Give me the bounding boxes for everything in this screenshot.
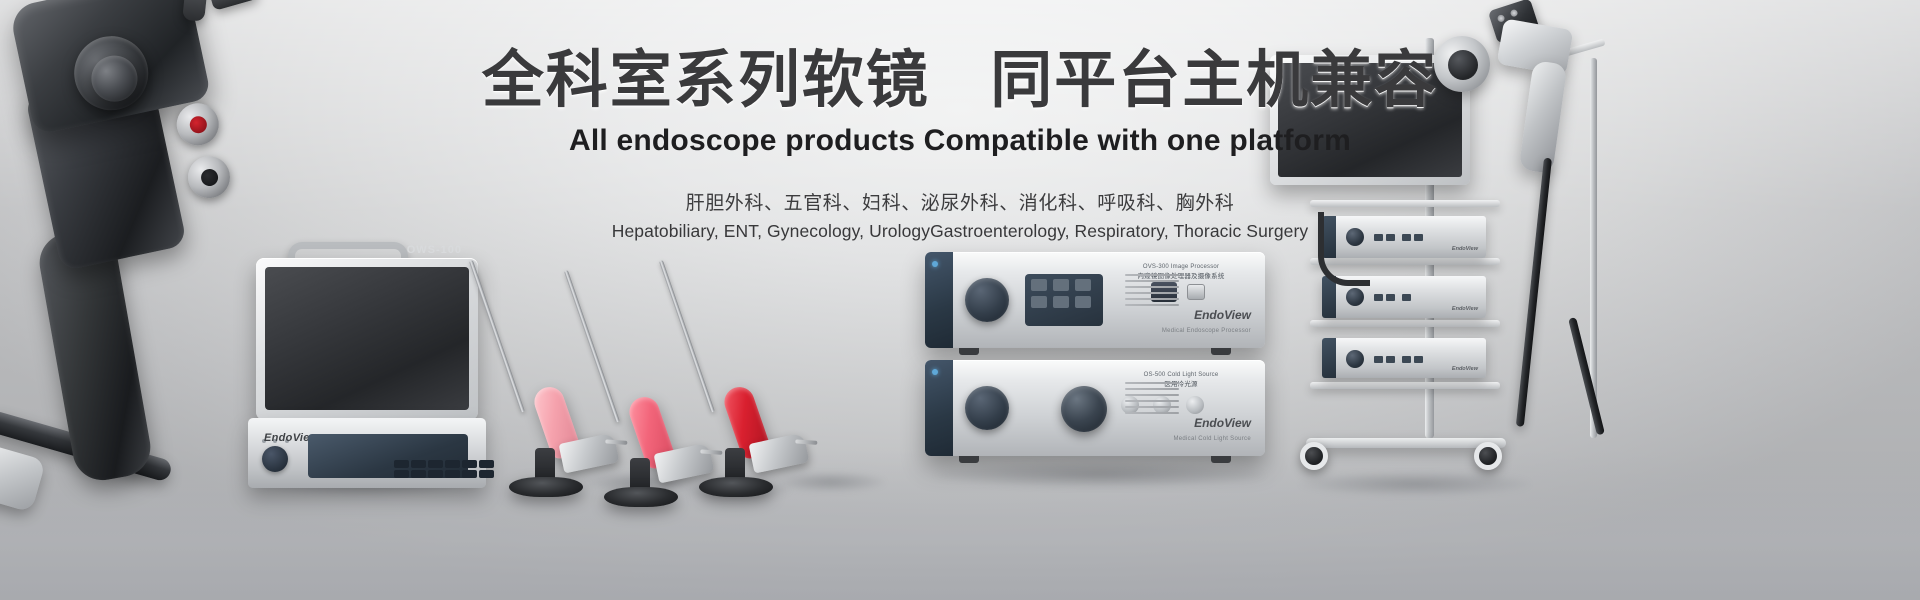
vent-slot — [1125, 274, 1179, 276]
keypad-key — [394, 470, 409, 478]
keypad-key — [428, 460, 443, 468]
base-control-dial — [262, 446, 288, 472]
keypad-key — [1386, 356, 1395, 363]
keypad-key — [411, 460, 426, 468]
scope-stand-base — [699, 477, 773, 497]
vent-slot — [1125, 280, 1179, 282]
unit-keypad — [1374, 288, 1414, 306]
keypad-key — [411, 470, 426, 478]
keypad-key — [1374, 294, 1383, 301]
keypad-key — [394, 460, 409, 468]
keypad-key — [428, 470, 443, 478]
processor-brand-label: EndoView — [1194, 308, 1251, 322]
keypad-key — [445, 470, 460, 478]
base-control-panel — [308, 434, 468, 478]
processor-keypad — [1025, 274, 1103, 326]
unit-dial — [1346, 350, 1364, 368]
monitor-model-label: OWS-100 — [407, 244, 462, 256]
keypad-key — [1031, 279, 1047, 291]
unit-keypad — [1374, 350, 1426, 368]
vent-slot — [1125, 286, 1179, 288]
keypad-key — [1031, 296, 1047, 308]
unit-port — [1322, 338, 1336, 378]
foot — [1211, 456, 1231, 463]
rigid-scope-red-image — [695, 252, 845, 492]
button — [1186, 396, 1204, 414]
ows-monitor-workstation-image: OWS-100 EndoView — [240, 250, 485, 490]
specialty-list-chinese: 肝胆外科、五官科、妇科、泌尿外科、消化科、呼吸科、胸外科 — [0, 188, 1920, 215]
vent-slot — [1125, 388, 1179, 390]
banner-text-block: 全科室系列软镜 同平台主机兼容 All endoscope products C… — [0, 48, 1920, 242]
processor-main-dial — [965, 278, 1009, 322]
keypad-key — [1402, 356, 1411, 363]
light-source-fiber-port — [925, 360, 953, 456]
vent-slot — [1125, 400, 1179, 402]
keypad-key — [479, 470, 494, 478]
headline-part-2: 同平台主机兼容 — [990, 46, 1438, 115]
scope-stand-base — [509, 477, 583, 497]
base-keypad — [394, 458, 506, 488]
vent-slot — [1125, 406, 1179, 408]
vent-slot — [1125, 304, 1179, 306]
foot — [1211, 348, 1231, 355]
processor-sub-label: Medical Endoscope Processor — [1162, 328, 1251, 334]
keypad-key — [462, 470, 477, 478]
vent-slot — [1125, 292, 1179, 294]
light-source-brand-label: EndoView — [1194, 416, 1251, 430]
subheadline-english: All endoscope products Compatible with o… — [0, 124, 1920, 158]
keypad-key — [1075, 279, 1091, 291]
keypad-key — [1374, 356, 1383, 363]
light-guide-icon — [1510, 9, 1519, 18]
processor-usb-port — [1187, 284, 1205, 300]
keypad-key — [445, 460, 460, 468]
processor-vent-grille — [1125, 274, 1179, 326]
light-source-sub-label: Medical Cold Light Source — [1173, 436, 1251, 442]
processor-stack-image: OVS-300 Image Processor 内窥镜图像处理器及摄像系统 En… — [925, 252, 1275, 467]
endoscope-lever — [182, 0, 210, 22]
foot — [959, 456, 979, 463]
monitor-screen — [265, 267, 469, 410]
keypad-key — [462, 460, 477, 468]
light-source-port-dial — [965, 386, 1009, 430]
cart-caster-wheel — [1474, 442, 1502, 470]
processor-scope-port — [925, 252, 953, 348]
headline: 全科室系列软镜 同平台主机兼容 — [0, 48, 1920, 114]
unit-dial — [1346, 288, 1364, 306]
keypad-key — [479, 460, 494, 468]
product-banner: 全科室系列软镜 同平台主机兼容 All endoscope products C… — [0, 0, 1920, 600]
scope-stand-base — [604, 487, 678, 507]
lens-icon — [1497, 14, 1506, 23]
specialty-list-english: Hepatobiliary, ENT, Gynecology, UrologyG… — [0, 221, 1920, 242]
cart-caster-wheel — [1300, 442, 1328, 470]
keypad-key — [1402, 294, 1411, 301]
headline-part-1: 全科室系列软镜 — [482, 46, 930, 115]
foot — [959, 348, 979, 355]
power-led-icon — [932, 261, 938, 267]
vent-slot — [1125, 394, 1179, 396]
monitor-bezel: OWS-100 — [256, 258, 478, 420]
power-led-icon — [932, 369, 938, 375]
keypad-key — [1075, 296, 1091, 308]
keypad-key — [1414, 356, 1423, 363]
vent-slot — [1125, 412, 1179, 414]
endoscope-lever-secondary — [208, 0, 259, 11]
scope-insertion-cord — [1568, 317, 1605, 435]
keypad-key — [1053, 296, 1069, 308]
keypad-key — [1386, 294, 1395, 301]
vent-slot — [1125, 298, 1179, 300]
light-source-feet — [925, 456, 1265, 463]
monitor-base-unit: EndoView — [248, 418, 486, 488]
image-processor-unit: OVS-300 Image Processor 内窥镜图像处理器及摄像系统 En… — [925, 252, 1265, 348]
vent-slot — [1125, 382, 1179, 384]
keypad-key — [1053, 279, 1069, 291]
light-source-vent-grille — [1125, 382, 1179, 434]
endoscope-connector — [0, 441, 46, 512]
light-intensity-knob — [1061, 386, 1107, 432]
processor-feet — [925, 348, 1265, 355]
cold-light-source-unit: OS-500 Cold Light Source 医用冷光源 EndoView … — [925, 360, 1265, 456]
